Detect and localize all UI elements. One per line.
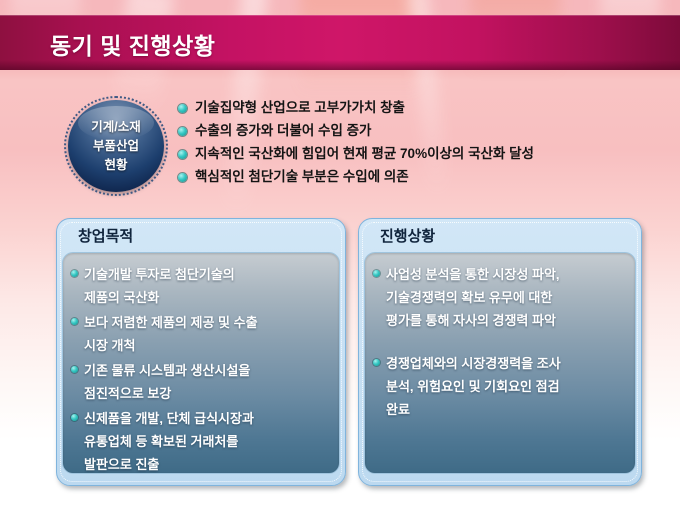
teal-dot-icon bbox=[71, 318, 78, 325]
panel-bullet-item: 경쟁업체와의 시장경쟁력을 조사 분석, 위험요인 및 기회요인 점검 완료 bbox=[373, 352, 625, 421]
overview-bullet-item: 수출의 증가와 더불어 수입 증가 bbox=[178, 122, 668, 140]
overview-bullet-item: 지속적인 국산화에 힘입어 현재 평균 70%이상의 국산화 달성 bbox=[178, 145, 668, 163]
bullet-line: 기존 물류 시스템과 생산시설을 bbox=[84, 363, 250, 378]
overview-bullet-list: 기술집약형 산업으로 고부가가치 창출 수출의 증가와 더불어 수입 증가 지속… bbox=[178, 99, 668, 191]
bullet-line: 유통업체 등 확보된 거래처를 bbox=[84, 434, 238, 449]
bullet-line: 완료 bbox=[386, 402, 410, 417]
teal-dot-icon bbox=[178, 150, 187, 159]
bullet-line: 경쟁업체와의 시장경쟁력을 조사 bbox=[386, 356, 561, 371]
panel-progress-status: 진행상황 사업성 분석을 통한 시장성 파악, 기술경쟁력의 확보 유무에 대한… bbox=[358, 218, 642, 486]
panel-title: 창업목적 bbox=[62, 224, 340, 252]
panel-body: 사업성 분석을 통한 시장성 파악, 기술경쟁력의 확보 유무에 대한 평가를 … bbox=[364, 252, 636, 474]
teal-dot-icon bbox=[71, 270, 78, 277]
overview-bullet-text: 지속적인 국산화에 힘입어 현재 평균 70%이상의 국산화 달성 bbox=[195, 145, 534, 163]
topic-badge: 기계/소재 부품산업 현황 bbox=[68, 100, 164, 192]
bullet-line: 평가를 통해 자사의 경쟁력 파악 bbox=[386, 313, 556, 328]
overview-bullet-text: 기술집약형 산업으로 고부가가치 창출 bbox=[195, 99, 405, 117]
bullet-line: 기술경쟁력의 확보 유무에 대한 bbox=[386, 290, 552, 305]
panel-bullet-item: 사업성 분석을 통한 시장성 파악, 기술경쟁력의 확보 유무에 대한 평가를 … bbox=[373, 263, 625, 332]
topic-badge-line-1: 기계/소재 bbox=[91, 118, 140, 137]
bullet-line: 점진적으로 보강 bbox=[84, 386, 171, 401]
panel-bullet-text: 기술개발 투자로 첨단기술의 제품의 국산화 bbox=[84, 263, 235, 309]
bullet-line: 분석, 위험요인 및 기회요인 점검 bbox=[386, 379, 560, 394]
panel-bullet-text: 보다 저렴한 제품의 제공 및 수출 시장 개척 bbox=[84, 311, 258, 357]
teal-dot-icon bbox=[178, 127, 187, 136]
teal-dot-icon bbox=[178, 104, 187, 113]
bullet-line: 제품의 국산화 bbox=[84, 290, 159, 305]
panel-bullet-text: 경쟁업체와의 시장경쟁력을 조사 분석, 위험요인 및 기회요인 점검 완료 bbox=[386, 352, 561, 421]
presentation-slide: 동기 및 진행상황 기계/소재 부품산업 현황 기술집약형 산업으로 고부가가치… bbox=[0, 0, 680, 510]
panel-bullet-item: 보다 저렴한 제품의 제공 및 수출 시장 개척 bbox=[71, 311, 329, 357]
teal-dot-icon bbox=[373, 270, 380, 277]
overview-bullet-text: 핵심적인 첨단기술 부분은 수입에 의존 bbox=[195, 168, 409, 186]
bullet-line: 발판으로 진출 bbox=[84, 457, 159, 472]
panel-bullet-text: 신제품을 개발, 단체 급식시장과 유통업체 등 확보된 거래처를 발판으로 진… bbox=[84, 407, 254, 474]
teal-dot-icon bbox=[373, 359, 380, 366]
bullet-line: 시장 개척 bbox=[84, 338, 135, 353]
bullet-line: 사업성 분석을 통한 시장성 파악, bbox=[386, 267, 560, 282]
slide-title-bar: 동기 및 진행상황 bbox=[0, 15, 680, 70]
panel-bullet-text: 기존 물류 시스템과 생산시설을 점진적으로 보강 bbox=[84, 359, 250, 405]
overview-bullet-text: 수출의 증가와 더불어 수입 증가 bbox=[195, 122, 371, 140]
overview-bullet-item: 핵심적인 첨단기술 부분은 수입에 의존 bbox=[178, 168, 668, 186]
panel-bullet-item: 신제품을 개발, 단체 급식시장과 유통업체 등 확보된 거래처를 발판으로 진… bbox=[71, 407, 329, 474]
panel-business-purpose: 창업목적 기술개발 투자로 첨단기술의 제품의 국산화 보다 저렴한 제품의 제… bbox=[56, 218, 346, 486]
panel-bullet-item: 기술개발 투자로 첨단기술의 제품의 국산화 bbox=[71, 263, 329, 309]
teal-dot-icon bbox=[178, 173, 187, 182]
bullet-line: 보다 저렴한 제품의 제공 및 수출 bbox=[84, 315, 258, 330]
overview-bullet-item: 기술집약형 산업으로 고부가가치 창출 bbox=[178, 99, 668, 117]
teal-dot-icon bbox=[71, 414, 78, 421]
slide-title: 동기 및 진행상황 bbox=[50, 27, 215, 61]
bullet-line: 기술개발 투자로 첨단기술의 bbox=[84, 267, 235, 282]
panel-title: 진행상황 bbox=[364, 224, 636, 252]
panel-bullet-text: 사업성 분석을 통한 시장성 파악, 기술경쟁력의 확보 유무에 대한 평가를 … bbox=[386, 263, 560, 332]
topic-badge-line-3: 현황 bbox=[104, 156, 127, 175]
teal-dot-icon bbox=[71, 366, 78, 373]
panel-bullet-item: 기존 물류 시스템과 생산시설을 점진적으로 보강 bbox=[71, 359, 329, 405]
panel-body: 기술개발 투자로 첨단기술의 제품의 국산화 보다 저렴한 제품의 제공 및 수… bbox=[62, 252, 340, 474]
topic-badge-line-2: 부품산업 bbox=[93, 137, 139, 156]
bullet-line: 신제품을 개발, 단체 급식시장과 bbox=[84, 411, 254, 426]
